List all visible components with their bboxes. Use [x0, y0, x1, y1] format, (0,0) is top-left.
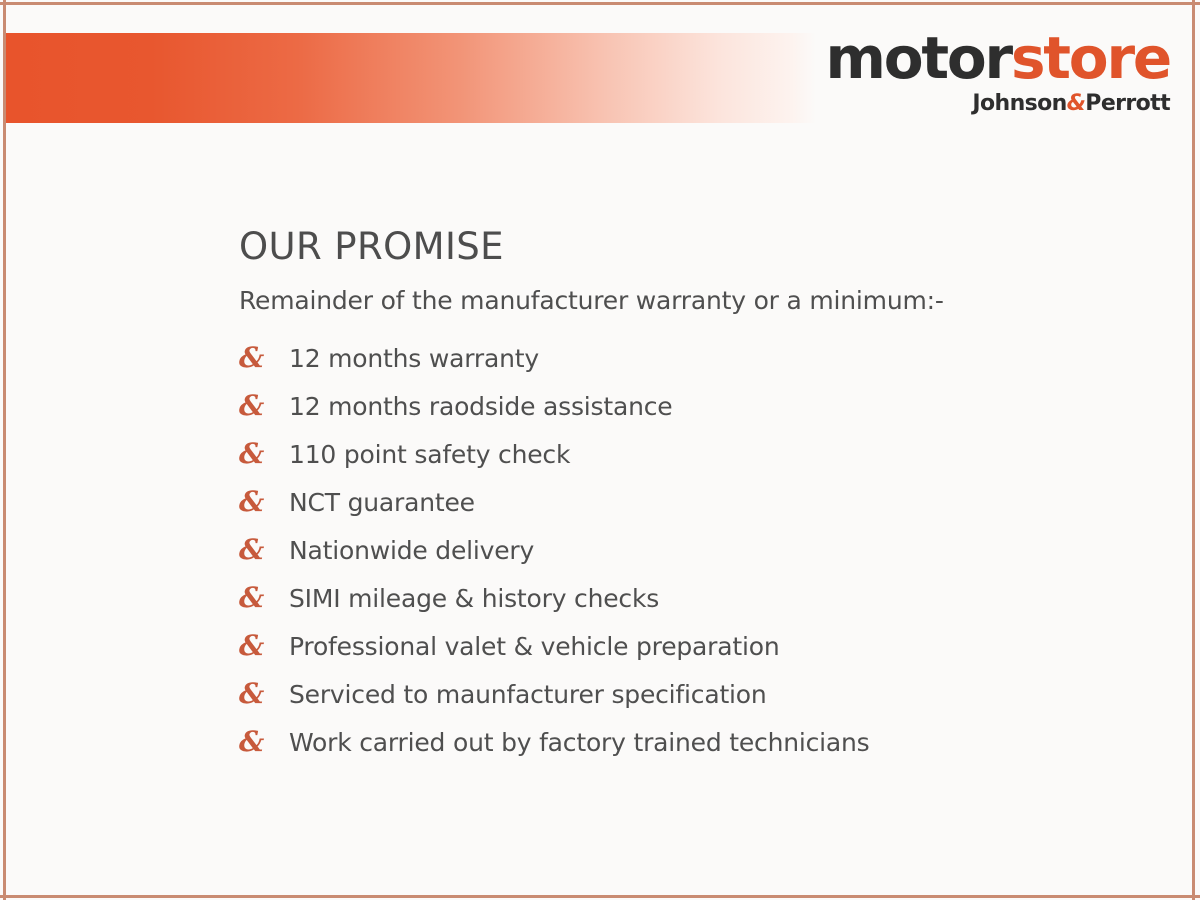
list-item: & NCT guarantee — [239, 488, 1152, 536]
list-item-label: 12 months raodside assistance — [289, 392, 672, 422]
promise-content: OUR PROMISE Remainder of the manufacture… — [239, 227, 1152, 776]
list-item: & SIMI mileage & history checks — [239, 584, 1152, 632]
ampersand-bullet-icon: & — [239, 440, 289, 468]
list-item-label: NCT guarantee — [289, 488, 475, 518]
motorstore-logo: motorstore Johnson&Perrott — [825, 29, 1170, 115]
list-item: & 110 point safety check — [239, 440, 1152, 488]
list-item: & Serviced to maunfacturer specification — [239, 680, 1152, 728]
page-subtitle: Remainder of the manufacturer warranty o… — [239, 286, 1152, 316]
ampersand-bullet-icon: & — [239, 392, 289, 420]
logo-wordmark-store: store — [1011, 24, 1170, 92]
ampersand-bullet-icon: & — [239, 536, 289, 564]
logo-dealer-perrott: Perrott — [1085, 91, 1170, 116]
list-item-label: 110 point safety check — [289, 440, 570, 470]
list-item-label: Serviced to maunfacturer specification — [289, 680, 767, 710]
promise-list: & 12 months warranty & 12 months raodsid… — [239, 344, 1152, 776]
ampersand-bullet-icon: & — [239, 728, 289, 756]
page-title: OUR PROMISE — [239, 227, 1152, 268]
list-item: & 12 months warranty — [239, 344, 1152, 392]
logo-wordmark: motorstore — [825, 29, 1170, 87]
logo-dealer-name: Johnson&Perrott — [825, 93, 1170, 115]
ampersand-bullet-icon: & — [239, 680, 289, 708]
frame-border-bottom — [0, 895, 1200, 898]
logo-dealer-johnson: Johnson — [972, 91, 1066, 116]
frame-border-right — [1192, 0, 1195, 900]
list-item: & Professional valet & vehicle preparati… — [239, 632, 1152, 680]
slide-page: motorstore Johnson&Perrott OUR PROMISE R… — [6, 5, 1192, 895]
promise-slide: motorstore Johnson&Perrott OUR PROMISE R… — [0, 0, 1200, 900]
logo-wordmark-motor: motor — [825, 24, 1010, 92]
header-gradient-band — [6, 33, 816, 123]
list-item-label: SIMI mileage & history checks — [289, 584, 659, 614]
list-item-label: Work carried out by factory trained tech… — [289, 728, 870, 758]
ampersand-bullet-icon: & — [239, 632, 289, 660]
list-item-label: Professional valet & vehicle preparation — [289, 632, 779, 662]
list-item-label: 12 months warranty — [289, 344, 539, 374]
ampersand-bullet-icon: & — [239, 584, 289, 612]
list-item: & Nationwide delivery — [239, 536, 1152, 584]
ampersand-bullet-icon: & — [239, 488, 289, 516]
logo-ampersand-icon: & — [1067, 91, 1086, 116]
ampersand-bullet-icon: & — [239, 344, 289, 372]
list-item: & 12 months raodside assistance — [239, 392, 1152, 440]
list-item-label: Nationwide delivery — [289, 536, 534, 566]
list-item: & Work carried out by factory trained te… — [239, 728, 1152, 776]
